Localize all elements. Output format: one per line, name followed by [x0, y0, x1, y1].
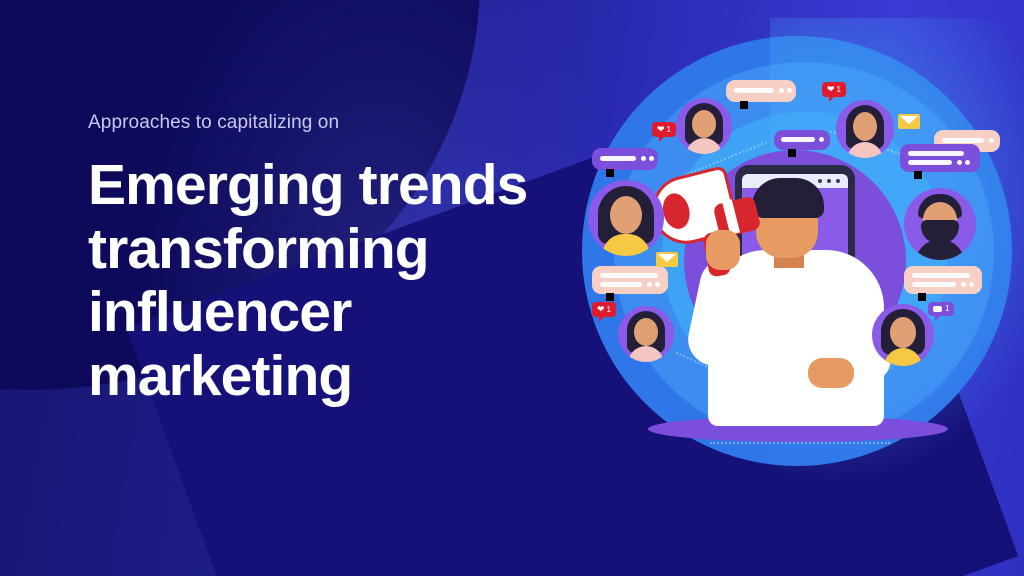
avatar-bottom-left	[618, 306, 674, 362]
comment-badge-1: 1	[928, 302, 954, 316]
avatar-face	[692, 110, 716, 138]
heart-icon: ❤	[597, 305, 605, 314]
bubble-dot	[655, 282, 660, 287]
avatar-face	[890, 317, 916, 348]
page-title: Emerging trends transforming influencer …	[88, 154, 558, 408]
banner-slide: Approaches to capitalizing on Emerging t…	[0, 0, 1024, 576]
phone-status-dot-1	[818, 179, 822, 183]
avatar-face	[853, 112, 877, 141]
avatar-face	[610, 196, 642, 234]
eyebrow-text: Approaches to capitalizing on	[88, 112, 558, 134]
bubble-line	[600, 282, 642, 287]
text-column: Approaches to capitalizing on Emerging t…	[88, 112, 558, 408]
bubble-line	[908, 151, 964, 156]
envelope-right-icon	[898, 114, 920, 129]
headline-line-2: transforming	[88, 218, 558, 282]
avatar-shirt	[916, 240, 964, 260]
like-badge-1: ❤ 1	[652, 122, 676, 137]
bubble-right-purple	[900, 144, 980, 172]
bubble-line	[908, 160, 952, 165]
bubble-dot	[989, 138, 994, 143]
man-hair	[752, 178, 824, 218]
like-badge-2: ❤ 1	[822, 82, 846, 97]
bubble-dot	[819, 137, 824, 142]
man-right-hand	[808, 358, 854, 388]
headline-line-4: marketing	[88, 345, 558, 409]
bubble-dot	[641, 156, 646, 161]
avatar-face	[634, 318, 658, 346]
phone-status-dot-2	[827, 179, 831, 183]
bubble-line	[942, 138, 984, 143]
megaphone-inner	[659, 191, 693, 232]
avatar-right-bearded	[904, 188, 976, 260]
bubble-dot	[957, 160, 962, 165]
bubble-left-pink	[592, 266, 668, 294]
bubble-center-purple	[774, 130, 830, 150]
avatar-left	[588, 180, 664, 256]
bubble-dot	[779, 88, 784, 93]
bubble-line	[912, 273, 970, 278]
comment-count: 1	[945, 305, 949, 313]
bubble-dot	[961, 282, 966, 287]
avatar-top-right	[836, 100, 894, 158]
influencer-marketing-illustration: ❤ 1 ❤ 1 ❤ 1 1	[560, 18, 1024, 558]
bubble-dot	[647, 282, 652, 287]
bubble-right-pink-bottom	[904, 266, 982, 294]
like-count: 1	[607, 306, 611, 314]
bubble-dot	[969, 282, 974, 287]
headline-line-3: influencer	[88, 281, 558, 345]
bubble-line	[912, 282, 956, 287]
headline-line-1: Emerging trends	[88, 154, 558, 218]
bubble-top-pink	[726, 80, 796, 102]
connector-arc-5	[710, 442, 890, 444]
bubble-left-purple	[592, 148, 658, 170]
like-count: 1	[837, 86, 841, 94]
man-left-hand	[706, 230, 740, 270]
avatar-top-left	[676, 98, 732, 154]
avatar-bottom-right	[872, 304, 934, 366]
envelope-left-icon	[656, 252, 678, 267]
bubble-line	[734, 88, 774, 93]
bubble-line	[600, 156, 636, 161]
comment-icon	[933, 306, 942, 312]
like-count: 1	[667, 126, 671, 134]
like-badge-3: ❤ 1	[592, 302, 616, 317]
heart-icon: ❤	[827, 85, 835, 94]
bubble-dot	[965, 160, 970, 165]
bubble-dot	[649, 156, 654, 161]
bubble-line	[781, 137, 815, 142]
bubble-line	[600, 273, 658, 278]
heart-icon: ❤	[657, 125, 665, 134]
phone-status-dot-3	[836, 179, 840, 183]
bubble-dot	[787, 88, 792, 93]
